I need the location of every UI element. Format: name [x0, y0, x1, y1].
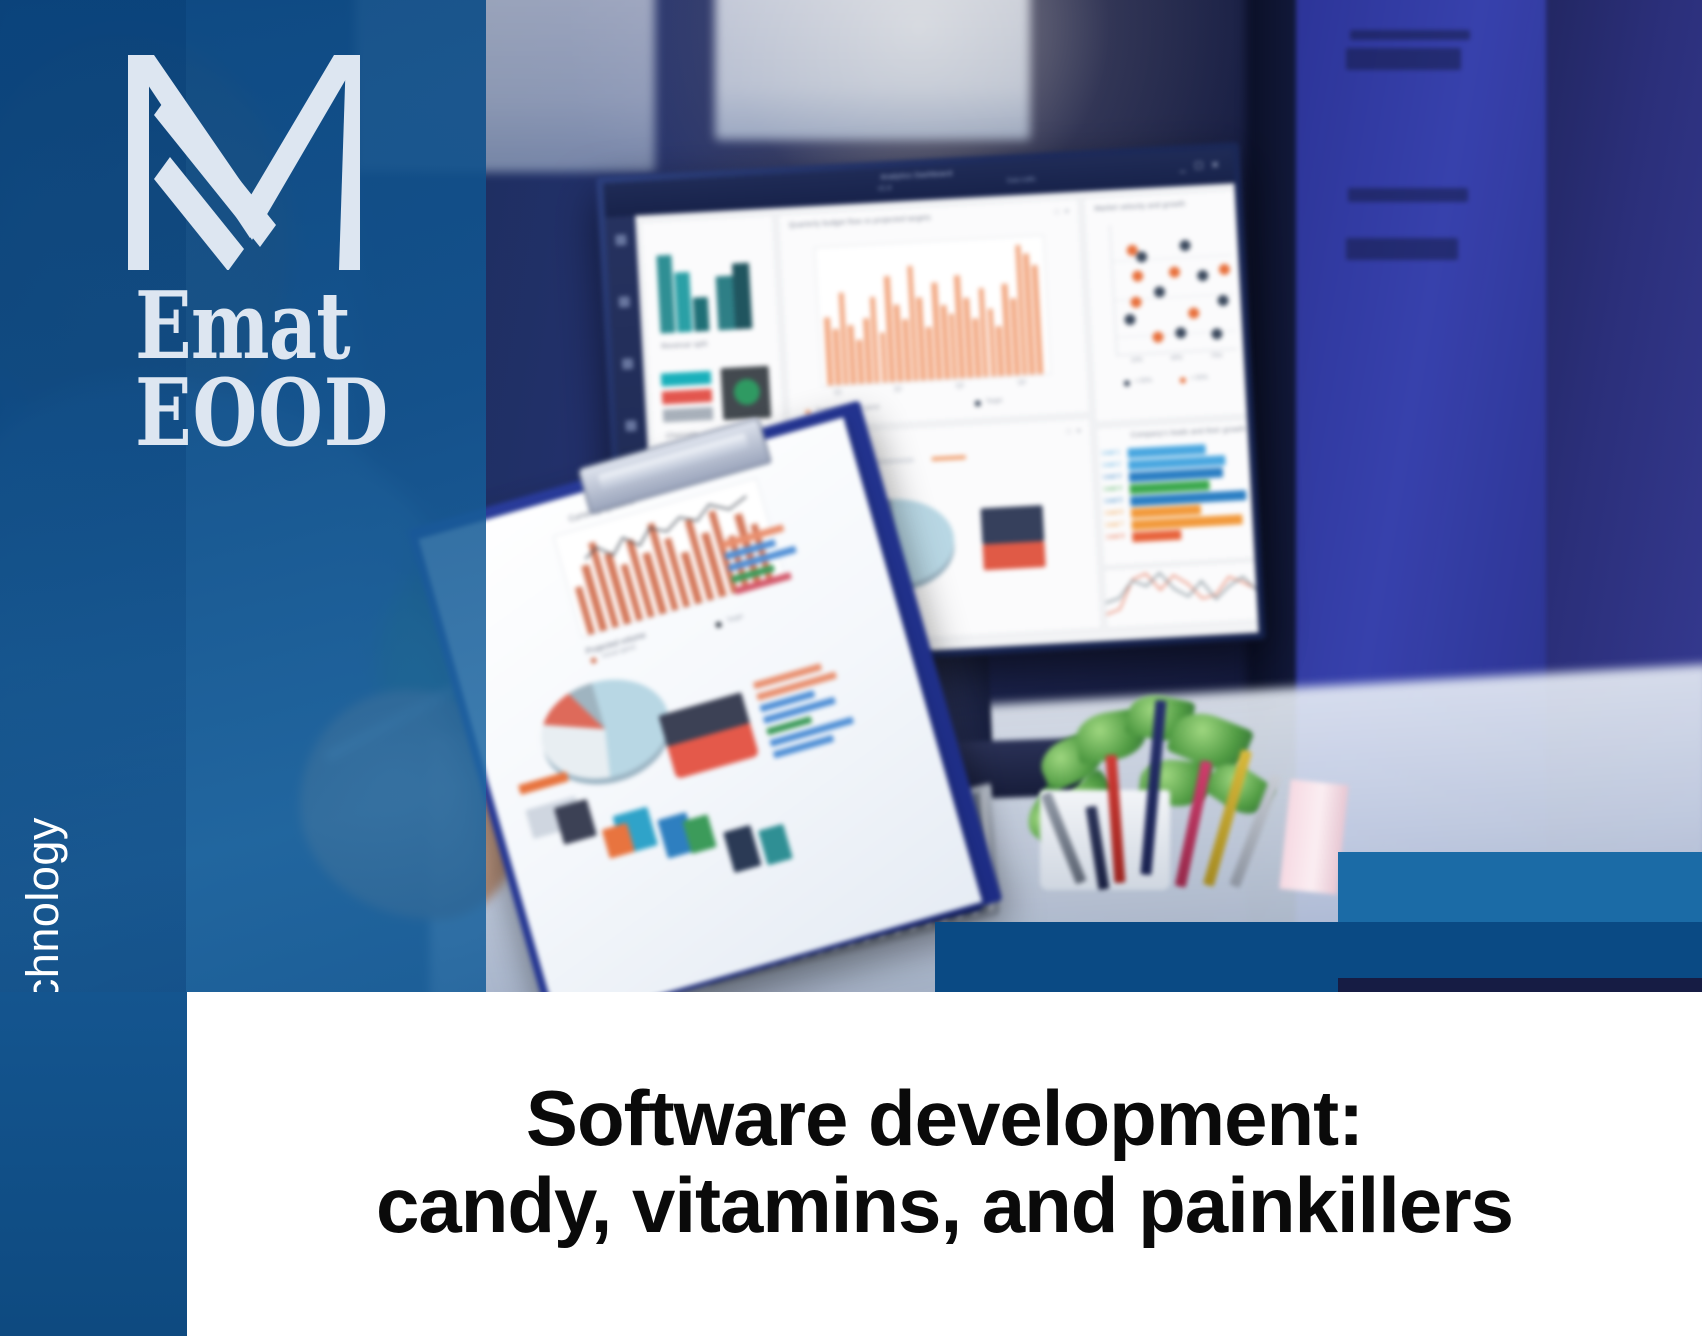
sidebar-icon-home[interactable] [615, 234, 627, 246]
scatter-plot [1109, 219, 1237, 356]
histogram-title: Quarterly budget flow vs projected targe… [789, 215, 931, 230]
maximize-icon[interactable]: ☐ [1194, 162, 1203, 172]
trend-line [1104, 568, 1257, 605]
x-tick: Q1 [834, 390, 842, 396]
hbar-panel[interactable]: Company's leads and their growth Lead 1L… [1095, 419, 1256, 567]
x-tick: Q3 [956, 383, 964, 389]
scatter-point [1175, 327, 1187, 339]
window-title-sub2: Data traffic [1007, 177, 1036, 185]
legend-swatch [975, 400, 981, 406]
cabinet-label [1346, 48, 1461, 70]
histogram-panel[interactable]: Quarterly budget flow vs projected targe… [777, 198, 1090, 430]
cabinet-label [1348, 188, 1468, 202]
minimize-icon[interactable]: _ [1180, 163, 1186, 173]
headline-block: Software development: candy, vitamins, a… [187, 992, 1702, 1336]
panel-menu-icon[interactable]: □ ▾ [1067, 427, 1083, 436]
hbar-label: Lead 4 [1104, 486, 1123, 493]
poster-canvas: Analytics Dashboard v1.4 Data traffic _ … [0, 0, 1702, 1336]
panel-menu-icon[interactable]: □ ▾ [1055, 207, 1071, 216]
hbar-label: Lead 1 [1102, 450, 1121, 457]
scatter-point [1130, 297, 1142, 309]
window-title: Analytics Dashboard [880, 171, 952, 182]
legend-label: Target [986, 398, 1003, 405]
scatter-point [1124, 314, 1136, 326]
cabinet-label [1346, 238, 1458, 260]
background-monitor-b [715, 0, 1030, 140]
brand-name-line2: EOOD [135, 369, 399, 456]
hbar-label: Lead 8 [1106, 534, 1125, 541]
scatter-point [1154, 286, 1166, 298]
title-left-strip [0, 992, 187, 1336]
scatter-point [1152, 331, 1164, 343]
histogram-bar [824, 317, 833, 385]
x-tick: 70% [1210, 353, 1222, 360]
gridline [1112, 255, 1232, 262]
trend-line [1104, 568, 1258, 615]
legend-label: < 50% [1135, 378, 1152, 385]
histogram-bar [987, 309, 996, 377]
histogram-bar [848, 325, 857, 384]
line-chart [1104, 562, 1259, 628]
headline-line2: candy, vitamins, and painkillers [376, 1159, 1513, 1251]
x-tick: 40% [1171, 355, 1183, 362]
legend-swatch [1180, 377, 1186, 383]
brand-name: Emat EOOD [135, 282, 399, 457]
hbar-label: Lead 3 [1103, 474, 1122, 481]
scatter-point [1188, 308, 1200, 320]
scatter-point [1218, 263, 1230, 275]
hbar-label: Lead 6 [1105, 510, 1124, 517]
hbar-label: Lead 2 [1102, 462, 1121, 469]
hbar-bar [1132, 530, 1181, 543]
histogram-bar [856, 339, 864, 384]
scatter-point [1197, 269, 1209, 281]
headline-line1: Software development: [526, 1077, 1363, 1160]
x-tick: Q2 [894, 387, 902, 393]
scatter-point [1169, 266, 1181, 278]
scatter-point [1132, 271, 1144, 283]
legend-swatch [1124, 380, 1130, 386]
close-icon[interactable]: ✕ [1211, 161, 1220, 171]
scatter-point [1217, 294, 1229, 306]
hbar-title: Company's leads and their growth [1131, 426, 1246, 439]
scatter-title: Market velocity and growth [1094, 201, 1185, 213]
line-panel[interactable] [1103, 561, 1259, 629]
sidebar-icon-chart[interactable] [619, 296, 631, 308]
sidebar-icon-users[interactable] [625, 420, 637, 432]
accent-band-navy [1338, 978, 1702, 992]
window-title-sub: v1.4 [878, 185, 892, 193]
hbar-label: Lead 5 [1104, 498, 1123, 505]
legend-label: > 50% [1191, 375, 1208, 382]
scatter-point [1211, 328, 1223, 340]
emat-m-logo-icon [128, 55, 360, 270]
x-tick: 10% [1131, 357, 1143, 364]
x-tick: Q4 [1018, 380, 1026, 386]
histogram-plot [814, 235, 1051, 387]
scatter-panel[interactable]: Market velocity and growth 10% 40% 70% <… [1083, 189, 1249, 423]
hbar-label: Lead 7 [1105, 522, 1124, 529]
paper-pie-chart [529, 665, 680, 793]
sidebar-icon-table[interactable] [622, 358, 634, 370]
cabinet-label [1350, 30, 1470, 40]
accent-band-upper [1338, 852, 1702, 924]
scatter-point [1179, 240, 1191, 252]
scatter-point [1136, 251, 1148, 263]
